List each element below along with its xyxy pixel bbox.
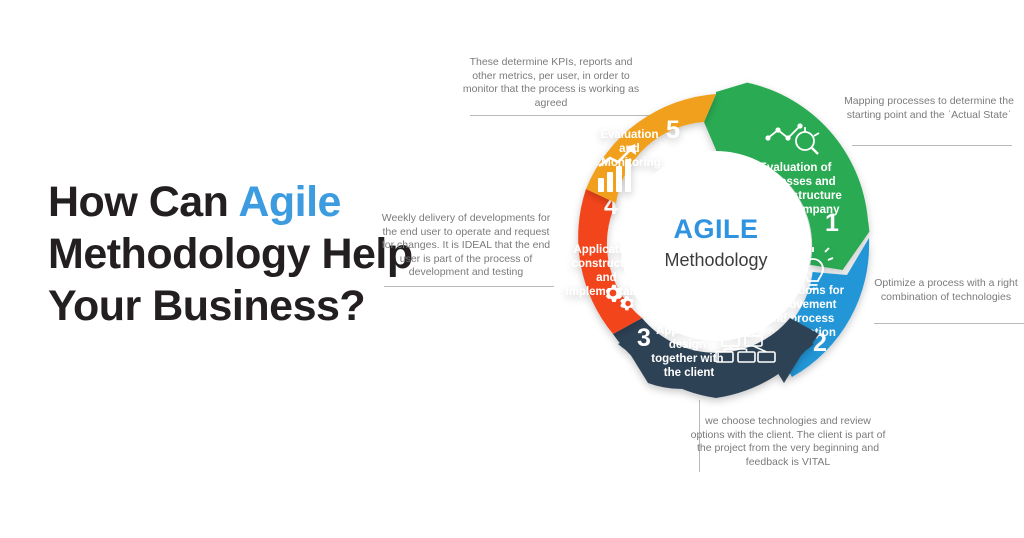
leader-line-right bbox=[874, 323, 1024, 324]
wheel-center-subtitle: Methodology bbox=[664, 250, 767, 270]
note-optimize-process: Optimize a process with a right combinat… bbox=[866, 277, 1024, 304]
agile-methodology-wheel: 1 Evaluation of processes and current st… bbox=[556, 86, 876, 406]
wheel-center-title: AGILE bbox=[673, 214, 758, 244]
leader-line-top-right bbox=[852, 145, 1012, 146]
headline-line-3: Your Business? bbox=[48, 280, 378, 332]
note-weekly-delivery: Weekly delivery of developments for the … bbox=[378, 212, 554, 280]
headline-accent-word: Agile bbox=[238, 178, 341, 226]
wheel-segment-3-number: 3 bbox=[637, 324, 651, 352]
headline-line-1-prefix: How Can bbox=[48, 178, 238, 226]
infographic-canvas: How Can Agile Methodology Help Your Busi… bbox=[0, 0, 1024, 538]
wheel-hub bbox=[621, 151, 811, 341]
headline-line-2: Methodology Help bbox=[48, 228, 378, 280]
note-choose-technologies: we choose technologies and review option… bbox=[688, 415, 888, 469]
page-title: How Can Agile Methodology Help Your Busi… bbox=[48, 176, 378, 332]
leader-line-left bbox=[384, 286, 554, 287]
wheel-segment-5-number: 5 bbox=[666, 116, 680, 144]
headline-line-1: How Can Agile bbox=[48, 176, 378, 228]
